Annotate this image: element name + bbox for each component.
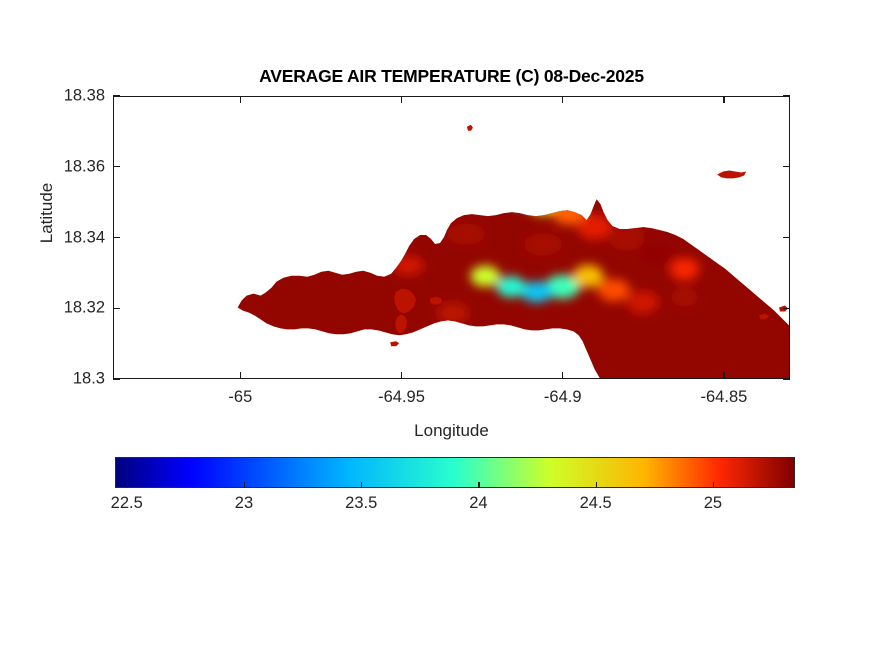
heatmap-cell bbox=[506, 184, 536, 206]
colorbar-tick-label: 24.5 bbox=[580, 494, 612, 513]
heatmap-cell bbox=[638, 241, 673, 266]
colorbar-tick-label: 25 bbox=[704, 494, 722, 513]
heatmap-cell bbox=[291, 169, 326, 194]
y-tick bbox=[783, 308, 790, 309]
x-tick-label: -64.85 bbox=[701, 388, 748, 407]
heatmap-cell bbox=[671, 288, 698, 306]
y-tick-label: 18.3 bbox=[17, 370, 105, 389]
x-tick bbox=[562, 96, 563, 103]
heatmap-cell bbox=[598, 279, 630, 301]
x-tick-label: -64.9 bbox=[544, 388, 582, 407]
islet-small-cay-south bbox=[390, 341, 399, 346]
x-tick bbox=[723, 372, 724, 379]
x-tick bbox=[240, 96, 241, 103]
heatmap-cell bbox=[191, 183, 226, 208]
y-tick bbox=[783, 378, 790, 379]
heatmap-cell bbox=[125, 190, 152, 211]
y-tick bbox=[113, 378, 120, 379]
heatmap-cell bbox=[258, 209, 289, 227]
heatmap-cell bbox=[411, 171, 443, 195]
heatmap-cell bbox=[154, 175, 181, 192]
y-tick-label: 18.36 bbox=[17, 157, 105, 176]
heatmap-cell bbox=[376, 216, 415, 237]
x-tick bbox=[723, 96, 724, 103]
heatmap-cell bbox=[447, 223, 486, 244]
colorbar-gradient bbox=[116, 458, 794, 487]
y-tick bbox=[113, 95, 120, 96]
heatmap-cell bbox=[257, 175, 289, 199]
temperature-heatmap bbox=[114, 97, 789, 378]
figure-canvas: AVERAGE AIR TEMPERATURE (C) 08-Dec-2025 bbox=[0, 0, 875, 656]
heatmap-cell bbox=[569, 162, 600, 180]
heatmap-cell bbox=[577, 214, 612, 239]
heatmap-cell bbox=[312, 163, 349, 190]
islet-northeast-cay bbox=[717, 170, 746, 178]
islet-buck-island bbox=[467, 125, 473, 131]
heatmap-cell bbox=[337, 167, 376, 195]
y-tick bbox=[113, 308, 120, 309]
heatmap-cell bbox=[364, 173, 400, 200]
colorbar-tick bbox=[596, 482, 597, 488]
y-tick bbox=[113, 237, 120, 238]
y-tick bbox=[783, 95, 790, 96]
map-axes[interactable] bbox=[113, 96, 790, 379]
heatmap-cell bbox=[156, 187, 191, 214]
heatmap-cell bbox=[274, 191, 304, 213]
heatmap-cell bbox=[438, 302, 469, 323]
heatmap-cell bbox=[464, 152, 499, 169]
y-axis-label: Latitude bbox=[37, 153, 57, 273]
x-tick bbox=[562, 372, 563, 379]
heatmap-cell bbox=[231, 169, 257, 186]
heatmap-cell bbox=[470, 266, 500, 287]
heatmap-svg bbox=[114, 97, 789, 378]
heatmap-cell bbox=[236, 183, 271, 208]
heatmap-cell bbox=[392, 256, 424, 276]
y-tick bbox=[113, 166, 120, 167]
y-tick-label: 18.32 bbox=[17, 299, 105, 318]
colorbar[interactable] bbox=[115, 457, 795, 488]
x-tick bbox=[401, 96, 402, 103]
heatmap-cell bbox=[168, 205, 199, 227]
heatmap-cell bbox=[609, 202, 644, 224]
heatmap-cell bbox=[138, 201, 170, 225]
heatmap-cell bbox=[215, 194, 247, 218]
heatmap-cell bbox=[342, 150, 377, 167]
x-tick bbox=[240, 372, 241, 379]
heatmap-cell bbox=[458, 169, 493, 194]
heatmap-cell bbox=[670, 258, 700, 280]
colorbar-tick-label: 23.5 bbox=[345, 494, 377, 513]
heatmap-cell bbox=[609, 224, 645, 251]
heatmap-cell bbox=[389, 169, 421, 193]
heatmap-cell bbox=[627, 291, 659, 313]
y-tick bbox=[783, 237, 790, 238]
y-tick bbox=[783, 166, 790, 167]
heatmap-cell bbox=[573, 265, 604, 287]
heatmap-cell bbox=[528, 193, 559, 215]
heatmap-field bbox=[114, 97, 789, 378]
colorbar-tick bbox=[361, 482, 362, 488]
heatmap-cell bbox=[436, 174, 469, 199]
page-title: AVERAGE AIR TEMPERATURE (C) 08-Dec-2025 bbox=[113, 66, 790, 87]
heatmap-cell bbox=[524, 233, 563, 255]
colorbar-tick-label: 22.5 bbox=[111, 494, 143, 513]
heatmap-cell bbox=[483, 175, 514, 197]
x-tick-label: -65 bbox=[228, 388, 252, 407]
colorbar-tick bbox=[713, 482, 714, 488]
x-axis-label: Longitude bbox=[113, 421, 790, 441]
colorbar-tick bbox=[478, 482, 479, 488]
y-tick-label: 18.38 bbox=[17, 87, 105, 106]
colorbar-tick bbox=[127, 482, 128, 488]
colorbar-tick-label: 24 bbox=[469, 494, 487, 513]
x-tick bbox=[401, 372, 402, 379]
colorbar-tick bbox=[244, 482, 245, 488]
x-tick-label: -64.95 bbox=[378, 388, 425, 407]
colorbar-tick-label: 23 bbox=[235, 494, 253, 513]
heatmap-cell bbox=[496, 276, 526, 297]
y-tick-label: 18.34 bbox=[17, 228, 105, 247]
